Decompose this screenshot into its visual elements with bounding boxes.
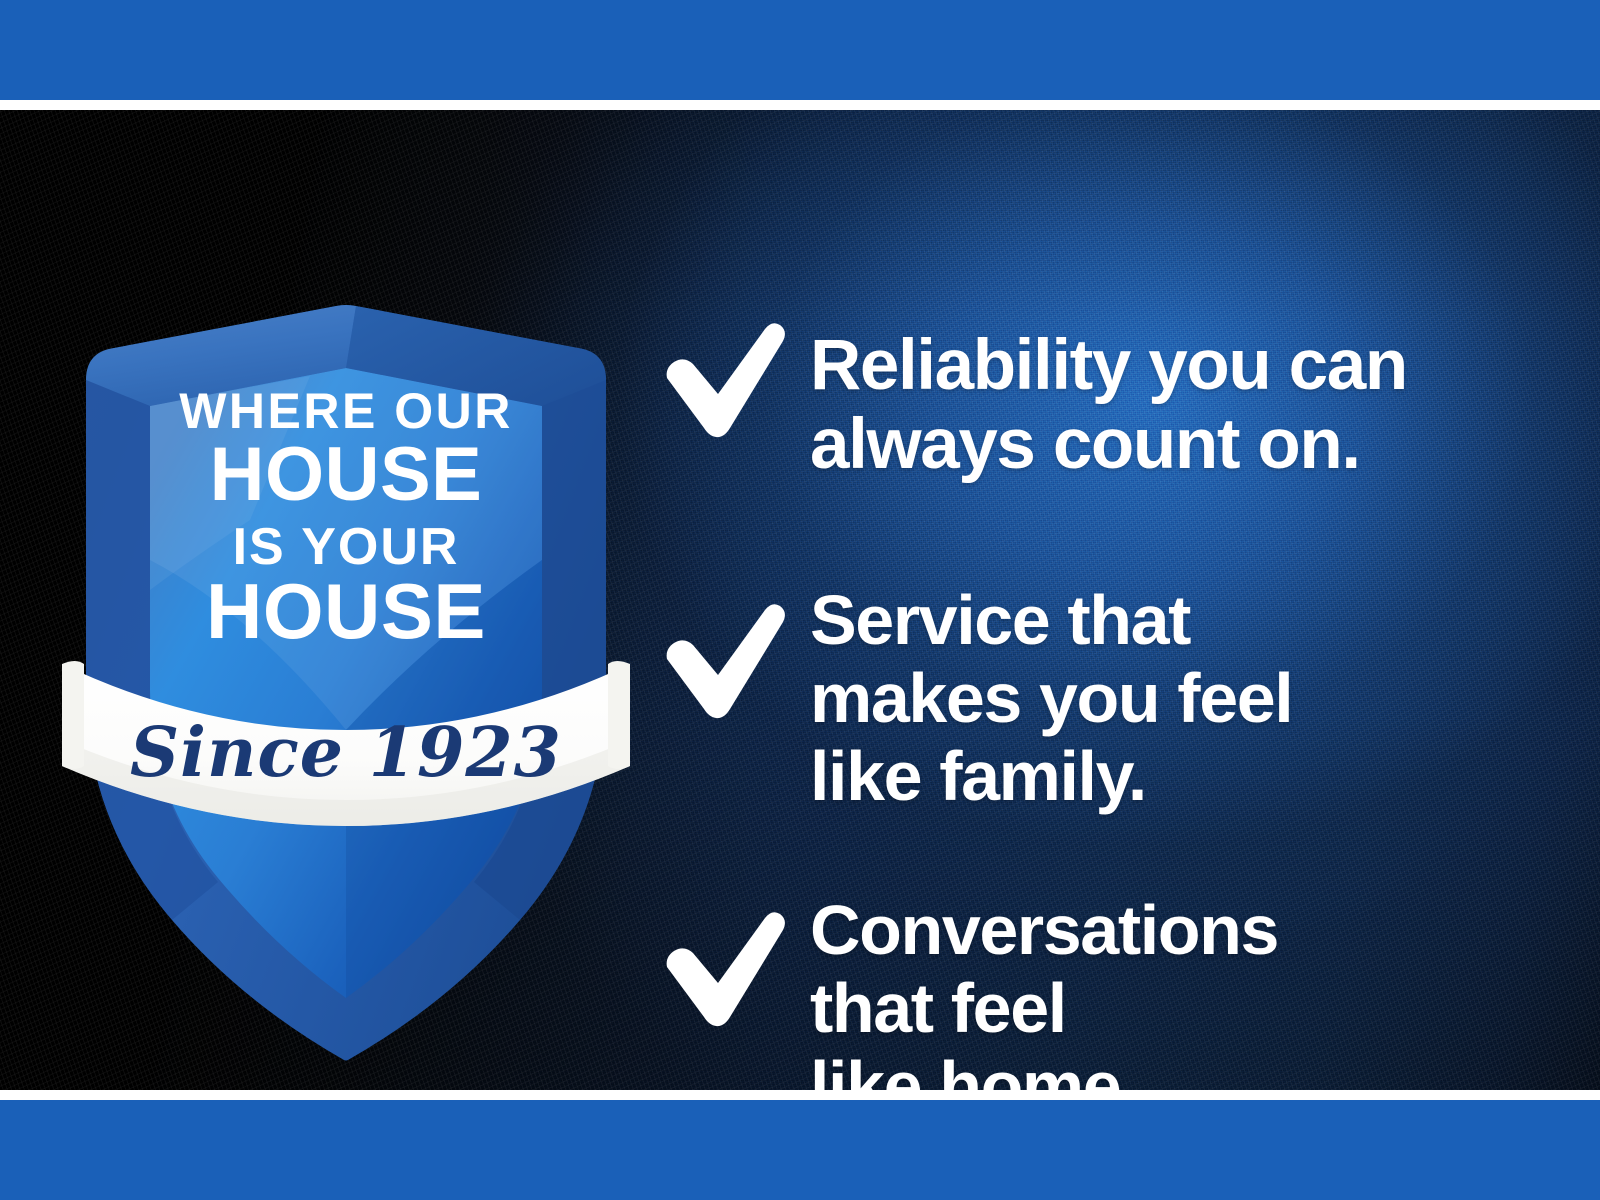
ribbon-tail-left xyxy=(62,661,84,769)
top-brand-bar xyxy=(0,0,1600,100)
benefit-text-1: Reliability you can always count on. xyxy=(810,320,1407,484)
ribbon-tail-right xyxy=(608,661,630,769)
promo-poster: WHERE OUR HOUSE IS YOUR HOUSE Si xyxy=(0,0,1600,1200)
main-content-panel: WHERE OUR HOUSE IS YOUR HOUSE Si xyxy=(0,110,1600,1090)
benefit-item-2: Service that makes you feel like family. xyxy=(660,575,1292,815)
ribbon-since-text: Since 1923 xyxy=(130,713,562,793)
checkmark-icon xyxy=(660,601,788,719)
bottom-brand-bar xyxy=(0,1100,1600,1200)
checkmark-icon xyxy=(660,909,788,1027)
benefit-item-1: Reliability you can always count on. xyxy=(660,320,1407,484)
checkmark-icon xyxy=(660,320,788,438)
benefit-text-3: Conversations that feel like home. xyxy=(810,885,1278,1090)
benefits-list: Reliability you can always count on. Ser… xyxy=(660,220,1540,1090)
badge-line-2: HOUSE xyxy=(210,432,483,517)
benefit-text-2: Service that makes you feel like family. xyxy=(810,575,1292,815)
badge-line-4: HOUSE xyxy=(206,567,486,655)
shield-badge: WHERE OUR HOUSE IS YOUR HOUSE Si xyxy=(50,260,630,1070)
badge-line-1: WHERE OUR xyxy=(179,383,513,439)
benefit-item-3: Conversations that feel like home. xyxy=(660,885,1278,1090)
